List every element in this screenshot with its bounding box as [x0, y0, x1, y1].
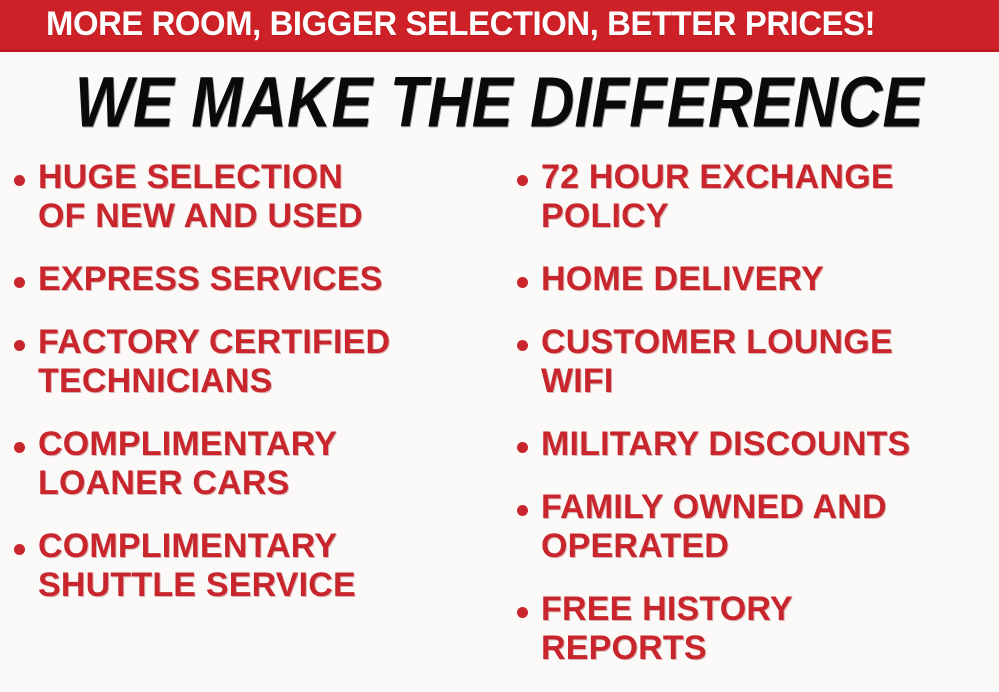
list-item: HUGE SELECTION OF NEW AND USED	[14, 158, 494, 236]
list-item-label: FAMILY OWNED AND OPERATED	[541, 488, 887, 566]
feature-column-left: HUGE SELECTION OF NEW AND USEDEXPRESS SE…	[14, 158, 494, 629]
page-title: WE MAKE THE DIFFERENCE	[75, 65, 924, 138]
list-item: CUSTOMER LOUNGE WIFI	[517, 323, 999, 401]
bullet-dot-icon	[517, 277, 528, 288]
promo-banner: MORE ROOM, BIGGER SELECTION, BETTER PRIC…	[0, 0, 999, 52]
list-item-label: CUSTOMER LOUNGE WIFI	[541, 323, 893, 401]
list-item-label: 72 HOUR EXCHANGE POLICY	[541, 158, 894, 236]
list-item: MILITARY DISCOUNTS	[517, 425, 999, 464]
bullet-dot-icon	[14, 277, 25, 288]
promo-banner-text: MORE ROOM, BIGGER SELECTION, BETTER PRIC…	[46, 7, 875, 41]
list-item-label: EXPRESS SERVICES	[38, 260, 383, 299]
bullet-dot-icon	[517, 340, 528, 351]
list-item-label: MILITARY DISCOUNTS	[541, 425, 910, 464]
list-item: EXPRESS SERVICES	[14, 260, 494, 299]
bullet-dot-icon	[14, 442, 25, 453]
advertisement-banner-root: MORE ROOM, BIGGER SELECTION, BETTER PRIC…	[0, 0, 999, 692]
bullet-dot-icon	[517, 442, 528, 453]
list-item-label: FACTORY CERTIFIED TECHNICIANS	[38, 323, 390, 401]
list-item: HOME DELIVERY	[517, 260, 999, 299]
bullet-dot-icon	[517, 175, 528, 186]
list-item-label: HOME DELIVERY	[541, 260, 824, 299]
list-item: FACTORY CERTIFIED TECHNICIANS	[14, 323, 494, 401]
bullet-dot-icon	[14, 544, 25, 555]
bullet-dot-icon	[14, 175, 25, 186]
headline-container: WE MAKE THE DIFFERENCE	[0, 62, 999, 142]
list-item: 72 HOUR EXCHANGE POLICY	[517, 158, 999, 236]
feature-columns: HUGE SELECTION OF NEW AND USEDEXPRESS SE…	[0, 158, 999, 692]
list-item-label: FREE HISTORY REPORTS	[541, 590, 793, 668]
list-item: COMPLIMENTARY SHUTTLE SERVICE	[14, 527, 494, 605]
list-item-label: COMPLIMENTARY SHUTTLE SERVICE	[38, 527, 356, 605]
bullet-dot-icon	[517, 607, 528, 618]
list-item-label: HUGE SELECTION OF NEW AND USED	[38, 158, 363, 236]
list-item: COMPLIMENTARY LOANER CARS	[14, 425, 494, 503]
bullet-dot-icon	[14, 340, 25, 351]
list-item: FAMILY OWNED AND OPERATED	[517, 488, 999, 566]
list-item: FREE HISTORY REPORTS	[517, 590, 999, 668]
bullet-dot-icon	[517, 505, 528, 516]
list-item-label: COMPLIMENTARY LOANER CARS	[38, 425, 337, 503]
feature-column-right: 72 HOUR EXCHANGE POLICYHOME DELIVERYCUST…	[517, 158, 999, 692]
